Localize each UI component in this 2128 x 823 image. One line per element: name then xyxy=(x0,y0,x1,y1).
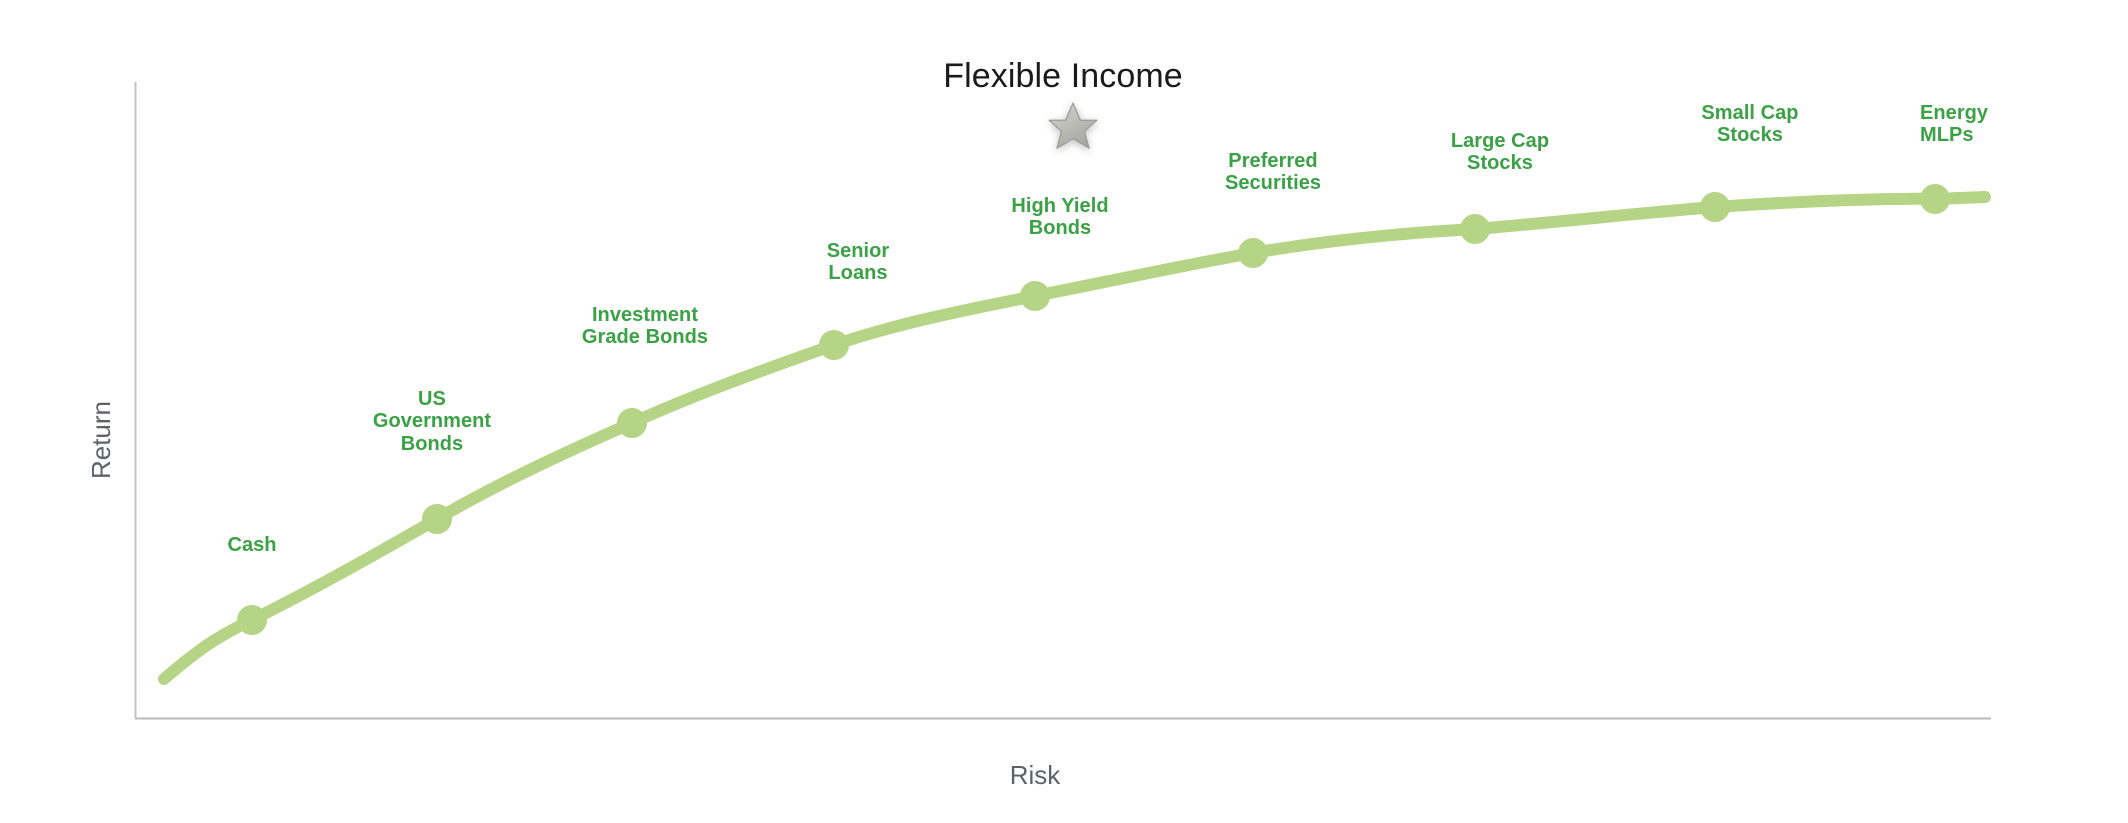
data-point-marker[interactable] xyxy=(819,330,849,360)
data-point-marker[interactable] xyxy=(1700,192,1730,222)
data-point-marker[interactable] xyxy=(422,504,452,534)
data-point-marker[interactable] xyxy=(1460,214,1490,244)
chart-canvas xyxy=(0,0,2128,823)
data-point-marker[interactable] xyxy=(1020,281,1050,311)
data-point-marker[interactable] xyxy=(1920,184,1950,214)
risk-return-chart: Flexible Income CashUS Government BondsI… xyxy=(0,0,2128,823)
data-point-marker[interactable] xyxy=(1238,238,1268,268)
data-point-marker[interactable] xyxy=(237,605,267,635)
data-point-marker[interactable] xyxy=(617,408,647,438)
